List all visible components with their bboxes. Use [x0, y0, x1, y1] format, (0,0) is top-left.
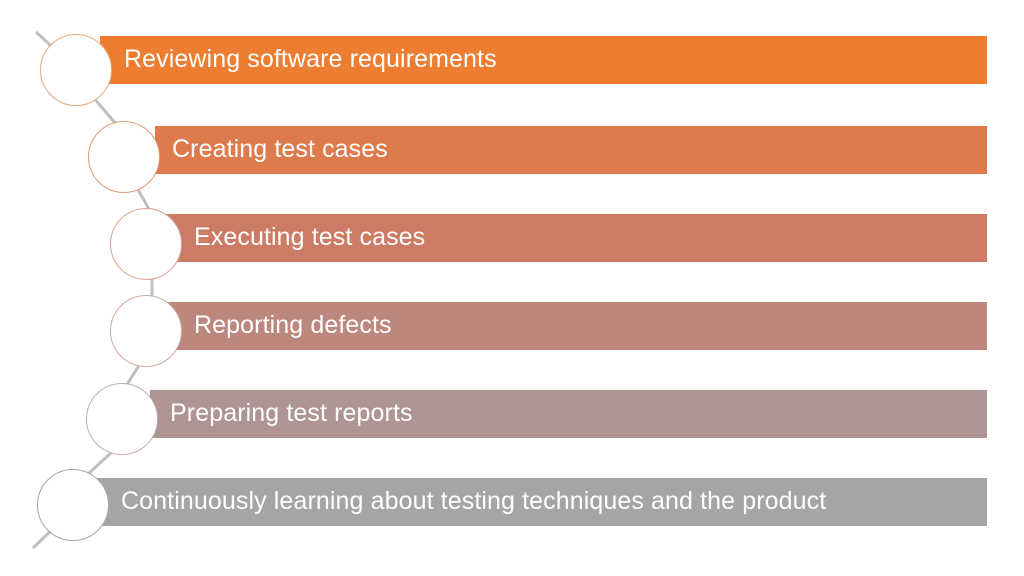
step-node-circle[interactable]: [40, 34, 112, 106]
step-bar[interactable]: Preparing test reports: [150, 390, 987, 438]
step-node-circle[interactable]: [88, 121, 160, 193]
step-node-circle[interactable]: [110, 208, 182, 280]
step-bar[interactable]: Creating test cases: [155, 126, 987, 174]
step-bar[interactable]: Reviewing software requirements: [100, 36, 987, 84]
step-bar[interactable]: Continuously learning about testing tech…: [95, 478, 987, 526]
step-label: Executing test cases: [194, 224, 425, 252]
step-bar[interactable]: Executing test cases: [165, 214, 987, 262]
step-node-circle[interactable]: [86, 383, 158, 455]
step-node-circle[interactable]: [37, 469, 109, 541]
step-label: Reporting defects: [194, 312, 392, 340]
step-node-circle[interactable]: [110, 295, 182, 367]
step-label: Continuously learning about testing tech…: [121, 488, 826, 516]
diagram-canvas: Reviewing software requirementsCreating …: [0, 0, 1024, 576]
step-label: Reviewing software requirements: [124, 46, 497, 74]
step-bar[interactable]: Reporting defects: [165, 302, 987, 350]
step-connector-line: [88, 452, 112, 474]
step-label: Preparing test reports: [170, 400, 413, 428]
step-label: Creating test cases: [172, 136, 388, 164]
